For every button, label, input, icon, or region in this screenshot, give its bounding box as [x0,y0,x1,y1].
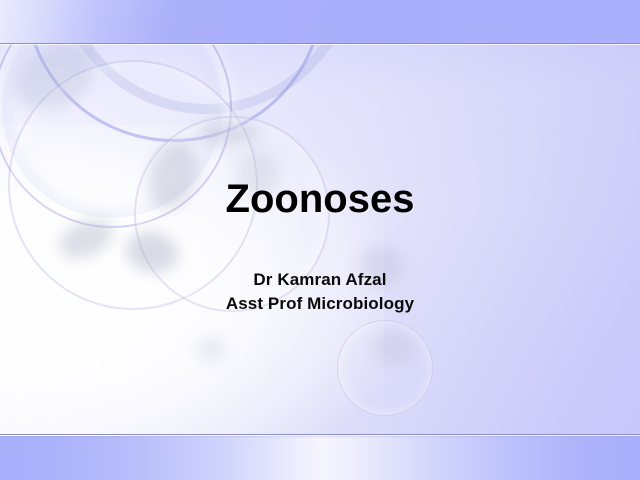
bottom-divider-shadow [0,436,640,438]
slide-title: Zoonoses [0,178,640,220]
presentation-slide: Zoonoses Dr Kamran Afzal Asst Prof Micro… [0,0,640,480]
title-block: Zoonoses [0,178,640,220]
ring-overlap-smudge [196,120,260,146]
subtitle-block: Dr Kamran Afzal Asst Prof Microbiology [0,268,640,316]
slide-bottom-band [0,436,640,480]
ring-overlap-smudge [372,330,414,364]
ring-overlap-smudge [196,336,226,362]
slide-top-band [0,0,640,43]
subtitle-presenter-role: Asst Prof Microbiology [0,292,640,316]
subtitle-presenter-name: Dr Kamran Afzal [0,268,640,292]
top-divider-highlight [0,44,640,45]
slide-top-band-sheen [0,0,166,43]
